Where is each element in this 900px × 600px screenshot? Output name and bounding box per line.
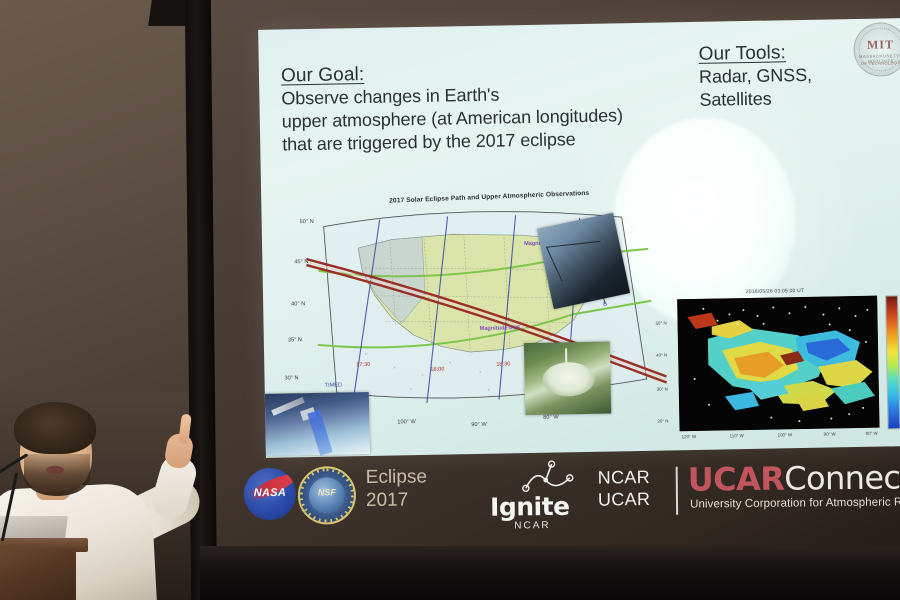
tec-ylabel-2: 40° N [656, 352, 667, 357]
nasa-logo-icon: NASA [244, 468, 297, 521]
map-time-1730: 17:30 [356, 362, 370, 368]
mit-logo-text: MIT [854, 37, 900, 53]
map-lat-40: 40° N [291, 301, 305, 307]
ucarconnect-wordmark: UCARConnect [688, 458, 900, 498]
speaker-hair [14, 402, 96, 454]
eclipse-2017-text: Eclipse 2017 [366, 465, 476, 512]
map-site-b: B [603, 302, 607, 308]
radar-antenna-outline [546, 241, 616, 281]
nsf-logo-text: NSF [300, 487, 354, 498]
map-lon-90: 90° W [471, 422, 486, 428]
map-lat-50: 50° N [300, 219, 314, 225]
ucar-line: UCAR [598, 489, 650, 511]
arecibo-dish-shape [542, 362, 595, 397]
tec-xlabel-1: 120° W [682, 434, 697, 439]
tec-plot-svg [677, 296, 879, 432]
eclipse-line-1: Eclipse [366, 465, 476, 489]
map-lat-30: 30° N [284, 375, 298, 381]
map-time-1800: 18:00 [430, 367, 444, 373]
map-magnitude-085: Magnitude 0.85 [480, 325, 521, 332]
nsf-logo-icon: NSF [298, 466, 357, 525]
arecibo-mast [565, 348, 567, 372]
speaker-beard [24, 454, 90, 496]
tec-ylabel-3: 30° N [657, 386, 668, 391]
eclipse-line-2: 2017 [366, 488, 476, 512]
tec-ylabel-4: 20° N [657, 418, 668, 423]
tec-map-figure: 2016/05/28 03:05:00 UT [655, 286, 900, 451]
tec-plot-axes [677, 296, 879, 432]
speaker-mouth [46, 466, 64, 474]
map-lon-100: 100° W [397, 419, 416, 425]
tec-xlabel-3: 100° W [778, 432, 793, 437]
arecibo-dish-photo-inset [524, 342, 611, 416]
tools-line-2: Satellites [699, 85, 899, 111]
footer-divider [676, 467, 679, 515]
tec-xlabel-2: 110° W [730, 433, 744, 438]
tec-ylabel-1: 50° N [656, 321, 667, 326]
ncar-line: NCAR [598, 467, 650, 489]
ucar-subtitle: University Corporation for Atmospheric R… [690, 496, 900, 510]
ucar-brand-red: UCAR [688, 460, 785, 499]
slide-footer-logos: NASA NSF Eclipse 2017 Ignite NCAR [205, 446, 900, 557]
timed-satellite-photo-inset [265, 392, 370, 456]
podium [0, 548, 76, 600]
screen-lower-shadow [200, 546, 900, 600]
speaker-figure [0, 398, 228, 600]
map-lon-80: 80° W [543, 414, 558, 420]
map-lat-35: 35° N [288, 337, 302, 343]
goal-block: Our Goal: Observe changes in Earth's upp… [281, 58, 683, 156]
radar-site-photo-inset [537, 213, 630, 309]
tec-xlabel-5: 80° W [866, 431, 878, 436]
ignite-wordmark: Ignite [490, 492, 570, 522]
satellite-beam [307, 410, 332, 456]
map-time-1830: 18:30 [496, 361, 510, 367]
mit-logo-sub2: OF TECHNOLOGY [855, 60, 900, 66]
ignite-ncar-sub: NCAR [514, 520, 550, 531]
projected-slide: Our Goal: Observe changes in Earth's upp… [258, 18, 900, 458]
map-site-timed: TIMED [325, 382, 343, 388]
tec-colorbar [885, 295, 900, 429]
ncar-ucar-wordmark: NCAR UCAR [598, 467, 651, 511]
presentation-photo: Our Goal: Observe changes in Earth's upp… [0, 0, 900, 600]
tec-xlabel-4: 90° W [824, 431, 836, 436]
map-lat-45: 45° N [294, 259, 308, 265]
ignite-ncar-logo: Ignite NCAR [484, 460, 593, 535]
nasa-logo-text: NASA [244, 487, 296, 500]
ucar-brand-white: Connect [784, 458, 900, 497]
eclipse-path-map: 2017 Solar Eclipse Path and Upper Atmosp… [271, 190, 705, 446]
